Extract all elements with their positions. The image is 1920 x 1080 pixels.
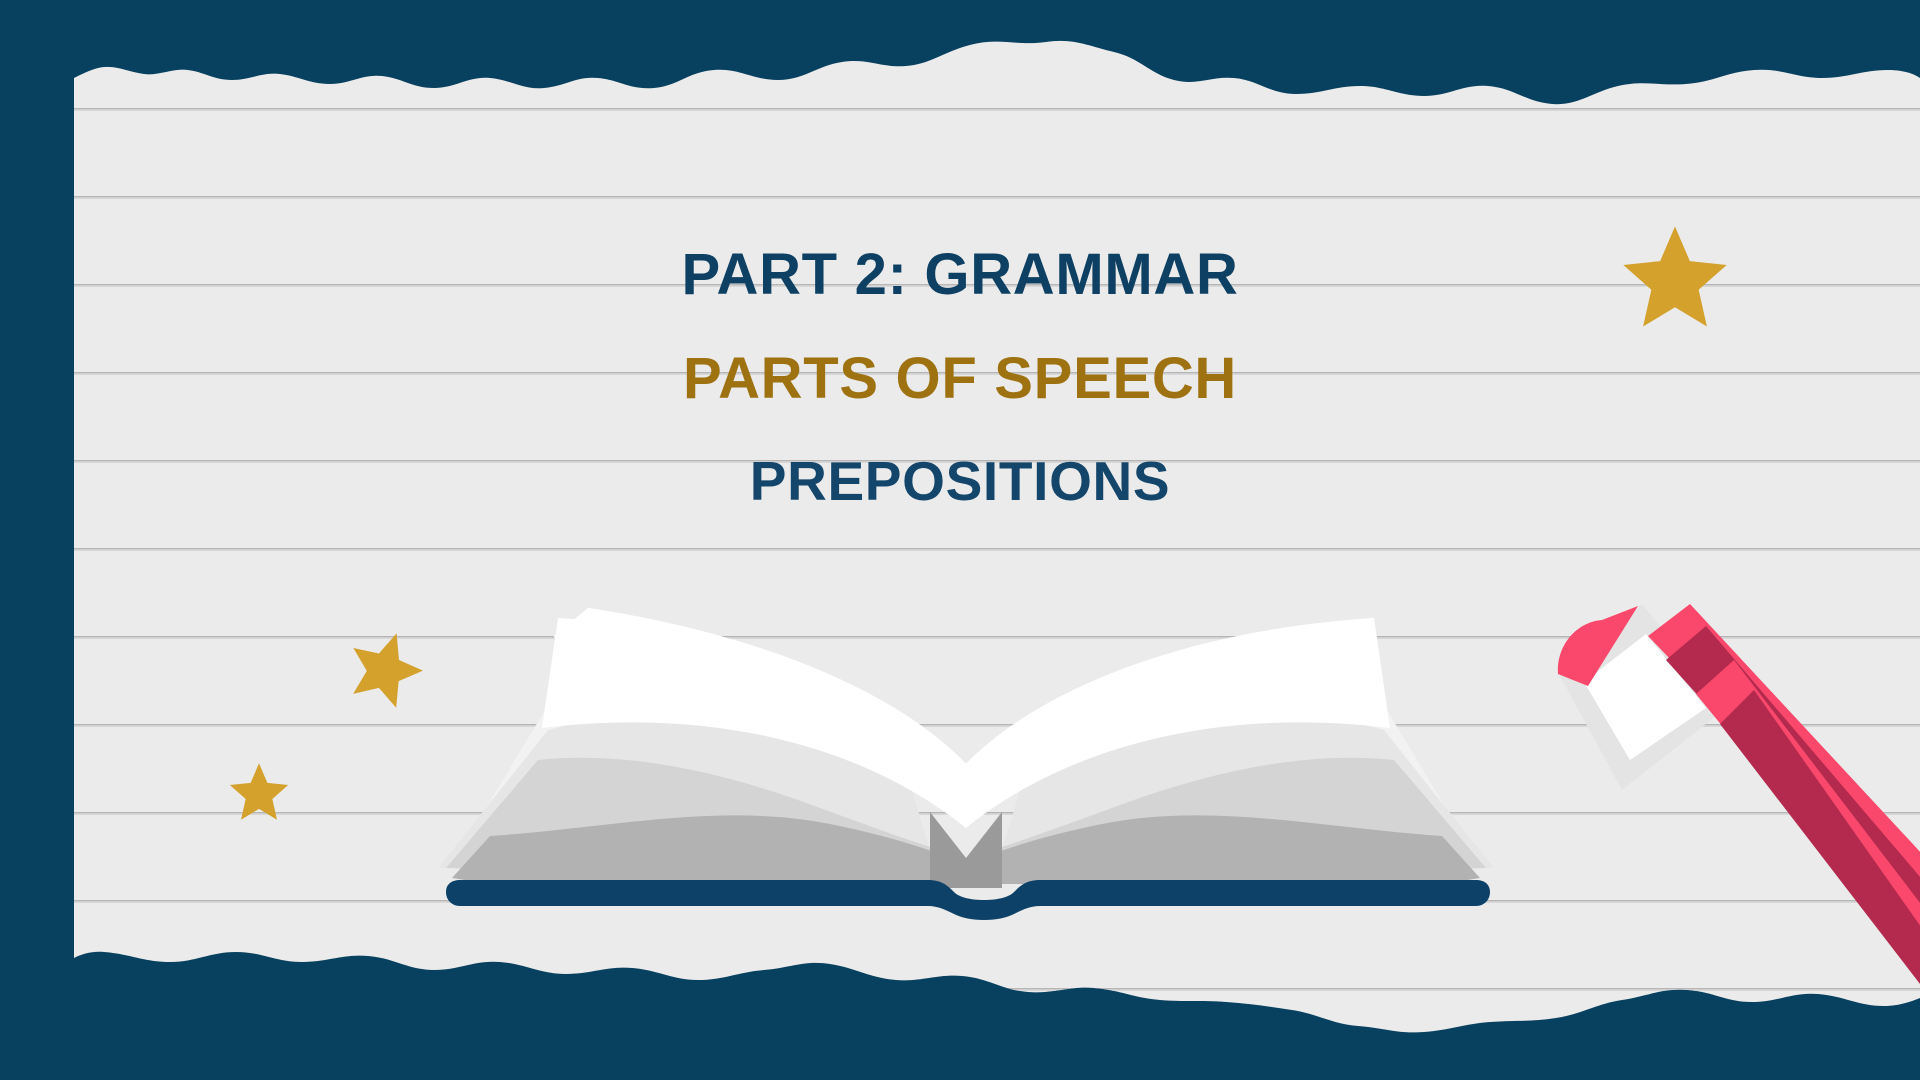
red-pencil-illustration: [1530, 590, 1920, 1010]
title-line-topic: PARTS OF SPEECH: [0, 350, 1920, 408]
star-icon-small: [228, 762, 290, 824]
title-line-subtopic: PREPOSITIONS: [0, 454, 1920, 509]
ruled-line: [74, 548, 1920, 551]
ruled-line: [74, 196, 1920, 199]
title-line-part: PART 2: GRAMMAR: [0, 246, 1920, 304]
open-book-illustration: [430, 600, 1500, 930]
slide-canvas: PART 2: GRAMMAR PARTS OF SPEECH PREPOSIT…: [0, 0, 1920, 1080]
slide-title-block: PART 2: GRAMMAR PARTS OF SPEECH PREPOSIT…: [0, 246, 1920, 509]
ruled-line: [74, 108, 1920, 111]
